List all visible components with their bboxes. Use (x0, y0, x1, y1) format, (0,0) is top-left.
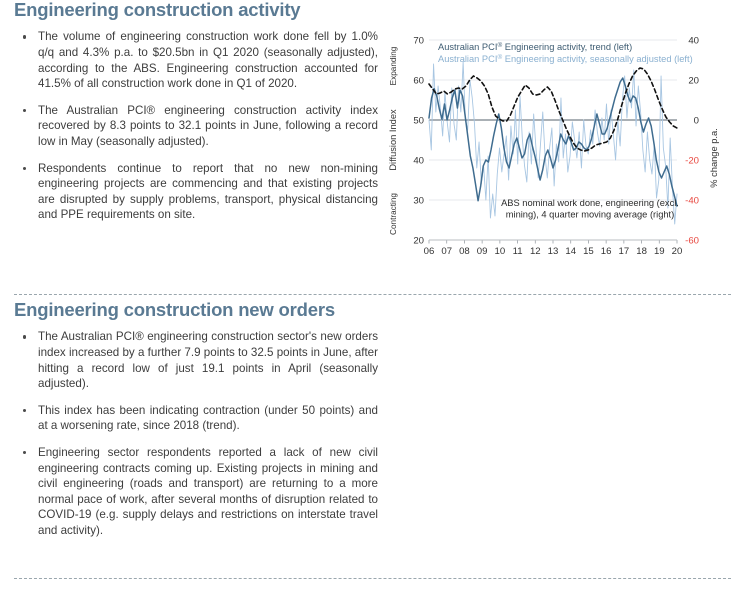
y-axis-tick-label: 40 (413, 155, 424, 166)
page-title-new-orders: Engineering construction new orders (14, 300, 378, 320)
list-item: The Australian PCI® engineering construc… (14, 103, 378, 150)
x-axis-tick-label: 13 (548, 246, 559, 257)
section-engineering-construction-new-orders: Engineering construction new orders The … (0, 300, 741, 590)
list-item: Engineering sector respondents reported … (14, 445, 378, 539)
page-title-activity: Engineering construction activity (14, 0, 378, 20)
y2-axis-tick-label: -40 (685, 195, 699, 206)
y2-axis-tick-label: -20 (685, 155, 699, 166)
y2-axis-tick-label: -60 (685, 235, 699, 246)
series-line (429, 68, 677, 151)
x-axis-tick-label: 15 (583, 246, 594, 257)
axis-label-diffusion-index: Diffusion Index (388, 109, 398, 171)
chart-annotation: mining), 4 quarter moving average (right… (506, 210, 674, 220)
x-axis-tick-label: 07 (441, 246, 452, 257)
list-item: The Australian PCI® engineering construc… (14, 329, 378, 391)
x-axis-tick-label: 06 (424, 246, 435, 257)
y2-axis-tick-label: 20 (688, 75, 699, 86)
activity-text-column: Engineering construction activity The vo… (14, 0, 378, 234)
x-axis-tick-label: 10 (495, 246, 506, 257)
axis-label-expanding: Expanding (389, 46, 398, 85)
series-line (429, 78, 677, 206)
report-page: Engineering construction activity The vo… (0, 0, 741, 590)
legend-seasonally-adjusted-label: Australian PCI® Engineering activity, se… (438, 53, 693, 64)
x-axis-tick-label: 18 (636, 246, 647, 257)
section-divider-bottom (14, 578, 731, 579)
list-item: The volume of engineering construction w… (14, 29, 378, 91)
list-item: Respondents continue to report that no n… (14, 161, 378, 223)
x-axis-tick-label: 16 (601, 246, 612, 257)
orders-bullet-list: The Australian PCI® engineering construc… (14, 329, 378, 538)
x-axis-tick-label: 20 (672, 246, 683, 257)
y-axis-tick-label: 50 (413, 115, 424, 126)
y-axis-tick-label: 30 (413, 195, 424, 206)
section-divider-top (14, 294, 731, 295)
y-axis-tick-label: 70 (413, 35, 424, 46)
y-axis-tick-label: 60 (413, 75, 424, 86)
y-axis-tick-label: 20 (413, 235, 424, 246)
list-item: This index has been indicating contracti… (14, 403, 378, 434)
axis-label-contracting: Contracting (389, 193, 398, 235)
orders-text-column: Engineering construction new orders The … (14, 300, 378, 549)
x-axis-tick-label: 17 (619, 246, 630, 257)
section-engineering-construction-activity: Engineering construction activity The vo… (0, 0, 741, 295)
axis-label-percent-change: % change p.a. (709, 128, 719, 187)
chart-engineering-activity: 203040506070-60-40-200204006070809101112… (385, 22, 733, 272)
legend-trend-label: Australian PCI® Engineering activity, tr… (438, 41, 632, 52)
x-axis-tick-label: 09 (477, 246, 488, 257)
y2-axis-tick-label: 0 (694, 115, 699, 126)
x-axis-tick-label: 19 (654, 246, 665, 257)
activity-bullet-list: The volume of engineering construction w… (14, 29, 378, 223)
y2-axis-tick-label: 40 (688, 35, 699, 46)
chart-svg: 203040506070-60-40-200204006070809101112… (385, 22, 733, 272)
x-axis-tick-label: 11 (513, 246, 523, 257)
chart-annotation: ABS nominal work done, engineering (excl… (501, 198, 679, 208)
x-axis-tick-label: 14 (565, 246, 576, 257)
x-axis-tick-label: 12 (530, 246, 541, 257)
x-axis-tick-label: 08 (459, 246, 470, 257)
